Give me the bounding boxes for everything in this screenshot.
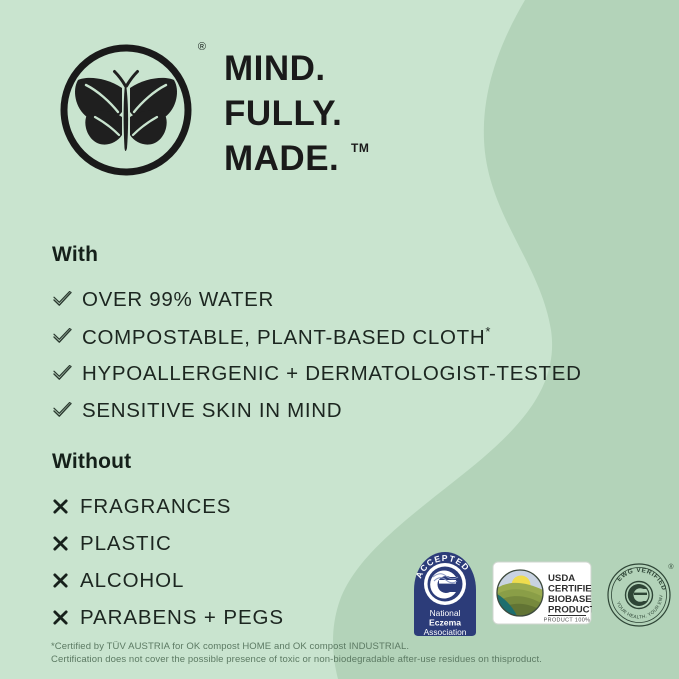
with-section: With OVER 99% WATER COMPOS bbox=[52, 243, 582, 429]
footnote-line-1: *Certified by TÜV AUSTRIA for OK compost… bbox=[51, 640, 651, 653]
list-item-label-wrap: COMPOSTABLE, PLANT-BASED CLOTH* bbox=[82, 324, 491, 350]
badge-subtitle: PRODUCT 100% bbox=[544, 618, 591, 624]
without-list: FRAGRANCES PLASTIC ALCOHOL bbox=[52, 488, 284, 636]
footnote-marker: * bbox=[485, 324, 491, 339]
list-item-label: FRAGRANCES bbox=[80, 495, 231, 519]
registered-trademark-icon: ® bbox=[668, 563, 674, 571]
badge-name-line-1: National bbox=[430, 608, 461, 618]
list-item: COMPOSTABLE, PLANT-BASED CLOTH* bbox=[52, 318, 582, 355]
footnote: *Certified by TÜV AUSTRIA for OK compost… bbox=[51, 640, 651, 667]
list-item: HYPOALLERGENIC + DERMATOLOGIST-TESTED bbox=[52, 355, 582, 392]
wordmark-line-2: FULLY. bbox=[224, 92, 342, 137]
product-infographic: ® MIND. FULLY. MADE. TM With OVER 99% WA… bbox=[0, 0, 679, 679]
ewg-verified-badge: EWG VERIFIED YOUR HEALTH. YOUR ENVIRONME… bbox=[604, 556, 678, 630]
wordmark-line-3: MADE. bbox=[224, 137, 342, 182]
x-mark-icon bbox=[52, 609, 80, 626]
list-item-label: ALCOHOL bbox=[80, 569, 184, 593]
with-list: OVER 99% WATER COMPOSTABLE, PLANT-BASED … bbox=[52, 281, 582, 429]
list-item-label: COMPOSTABLE, PLANT-BASED CLOTH bbox=[82, 325, 485, 348]
x-mark-icon bbox=[52, 535, 80, 552]
list-item-label: HYPOALLERGENIC + DERMATOLOGIST-TESTED bbox=[82, 362, 582, 386]
badge-title-line-3: BIOBASED bbox=[548, 594, 592, 605]
badge-title-line-2: CERTIFIED bbox=[548, 584, 592, 595]
x-mark-icon bbox=[52, 572, 80, 589]
brand-logo-block: ® MIND. FULLY. MADE. TM bbox=[56, 36, 342, 184]
list-item-label: SENSITIVE SKIN IN MIND bbox=[82, 399, 342, 423]
list-item: SENSITIVE SKIN IN MIND bbox=[52, 392, 582, 429]
badge-title-line-1: USDA bbox=[548, 573, 575, 584]
butterfly-in-circle-icon: ® bbox=[56, 36, 204, 184]
footnote-line-2: Certification does not cover the possibl… bbox=[51, 653, 651, 666]
registered-trademark-icon: ® bbox=[198, 42, 206, 53]
checkmark-icon bbox=[52, 402, 82, 419]
certification-badges: ACCEPTED National Eczema Association bbox=[406, 546, 678, 640]
list-item: FRAGRANCES bbox=[52, 488, 284, 525]
x-mark-icon bbox=[52, 498, 80, 515]
national-eczema-association-badge: ACCEPTED National Eczema Association bbox=[406, 546, 484, 640]
badge-name-line-3: Association bbox=[424, 627, 467, 637]
usda-certified-biobased-product-badge: USDA CERTIFIED BIOBASED PRODUCT PRODUCT … bbox=[492, 558, 592, 628]
checkmark-icon bbox=[52, 291, 82, 308]
with-heading: With bbox=[52, 243, 582, 267]
without-heading: Without bbox=[52, 450, 284, 474]
badge-title-line-4: PRODUCT bbox=[548, 605, 592, 616]
list-item: PLASTIC bbox=[52, 525, 284, 562]
checkmark-icon bbox=[52, 365, 82, 382]
list-item-label: OVER 99% WATER bbox=[82, 288, 274, 312]
list-item: PARABENS + PEGS bbox=[52, 599, 284, 636]
list-item-label: PLASTIC bbox=[80, 532, 172, 556]
list-item: OVER 99% WATER bbox=[52, 281, 582, 318]
checkmark-icon bbox=[52, 328, 82, 345]
wordmark-line-1: MIND. bbox=[224, 47, 342, 92]
without-section: Without FRAGRANCES PLASTIC bbox=[52, 450, 284, 636]
brand-wordmark: MIND. FULLY. MADE. TM bbox=[224, 47, 342, 181]
list-item-label: PARABENS + PEGS bbox=[80, 606, 284, 630]
trademark-icon: TM bbox=[351, 141, 369, 155]
badge-name-line-2: Eczema bbox=[429, 618, 461, 628]
list-item: ALCOHOL bbox=[52, 562, 284, 599]
